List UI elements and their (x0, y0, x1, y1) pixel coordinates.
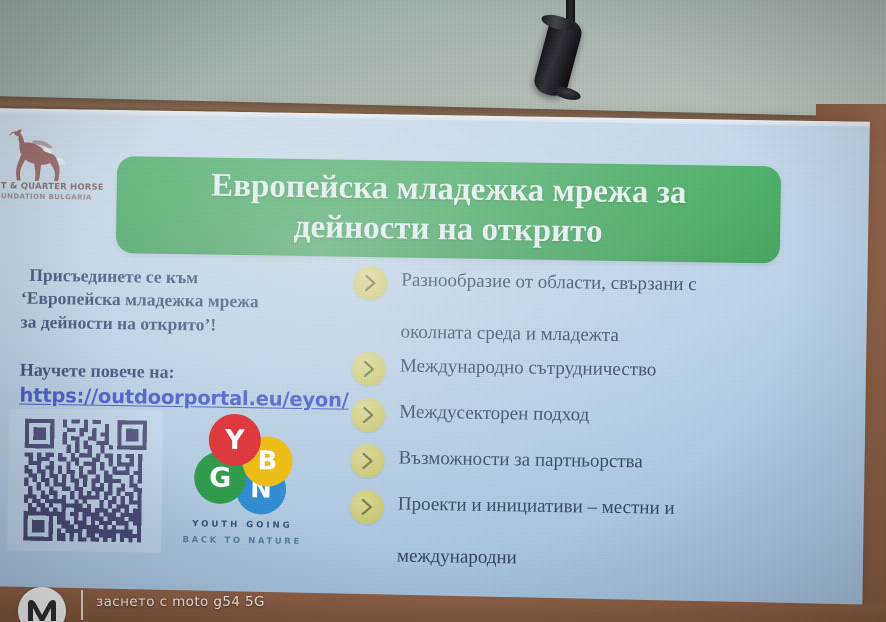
bullet-text: Междусекторен подход (399, 396, 821, 429)
chevron-right-icon (353, 266, 388, 301)
bullet-list: Разнообразие от области, свързани с окол… (349, 264, 824, 581)
chevron-right-icon (351, 398, 386, 433)
bullet-item: Международно сътрудничество (352, 350, 823, 402)
ygbn-tagline-1: YOUTH GOING (177, 519, 307, 531)
slide-title-line1: Европейска младежка мрежа за (211, 166, 687, 213)
qr-code-icon[interactable] (23, 419, 147, 543)
ygbn-logo: Y B G N YOUTH GOING BACK TO NATURE (177, 411, 309, 563)
slide-title: Европейска младежка мрежа за дейности на… (192, 166, 704, 253)
portal-url-link[interactable]: https://outdoorportal.eu/eyon/ (19, 383, 349, 411)
chevron-right-icon (350, 444, 385, 479)
chevron-right-icon (352, 352, 387, 387)
bullet-text: Проекти и инициативи – местни и (398, 488, 820, 521)
ygbn-tagline-2: BACK TO NATURE (177, 535, 307, 547)
bullet-text: Възможности за партньорства (398, 442, 820, 475)
chevron-right-icon (350, 490, 385, 525)
screenshot-root: PAINT & QUARTER HORSE FOUNDATION BULGARI… (0, 0, 886, 622)
organisation-logo: PAINT & QUARTER HORSE FOUNDATION BULGARI… (0, 126, 94, 206)
learn-more-label: Научете повече на: (20, 359, 350, 385)
join-invitation: Присъединете се към ‘Европейска младежка… (20, 264, 351, 339)
join-line2: ‘Европейска младежка мрежа (21, 288, 259, 312)
horse-icon (0, 126, 85, 181)
bullet-text: Разнообразие от области, свързани с (401, 265, 823, 298)
bullet-item: Междусекторен подход (351, 396, 822, 448)
presentation-slide: PAINT & QUARTER HORSE FOUNDATION BULGARI… (0, 108, 870, 614)
bullet-text: Международно сътрудничество (400, 350, 822, 383)
slide-title-banner: Европейска младежка мрежа за дейности на… (116, 156, 781, 263)
slide-title-line2: дейности на открито (210, 206, 686, 253)
bullet-item: Разнообразие от области, свързани с (353, 264, 824, 316)
org-logo-line1: PAINT & QUARTER HORSE (0, 181, 104, 193)
projection-screen: PAINT & QUARTER HORSE FOUNDATION BULGARI… (0, 108, 870, 614)
join-line3: за дейности на открито’! (20, 311, 216, 334)
bullet-item: Възможности за партньорства (350, 442, 821, 494)
bullet-text-continued: международни (397, 534, 820, 581)
bullet-text-continued: околната среда и младежта (400, 311, 823, 358)
bullet-item: Проекти и инициативи – местни и (349, 488, 820, 540)
ygbn-circles: Y B G N (192, 413, 298, 513)
org-logo-line2: FOUNDATION BULGARIA (0, 192, 92, 202)
qr-code-panel (7, 408, 163, 552)
left-column: Присъединете се към ‘Европейска младежка… (19, 264, 351, 412)
